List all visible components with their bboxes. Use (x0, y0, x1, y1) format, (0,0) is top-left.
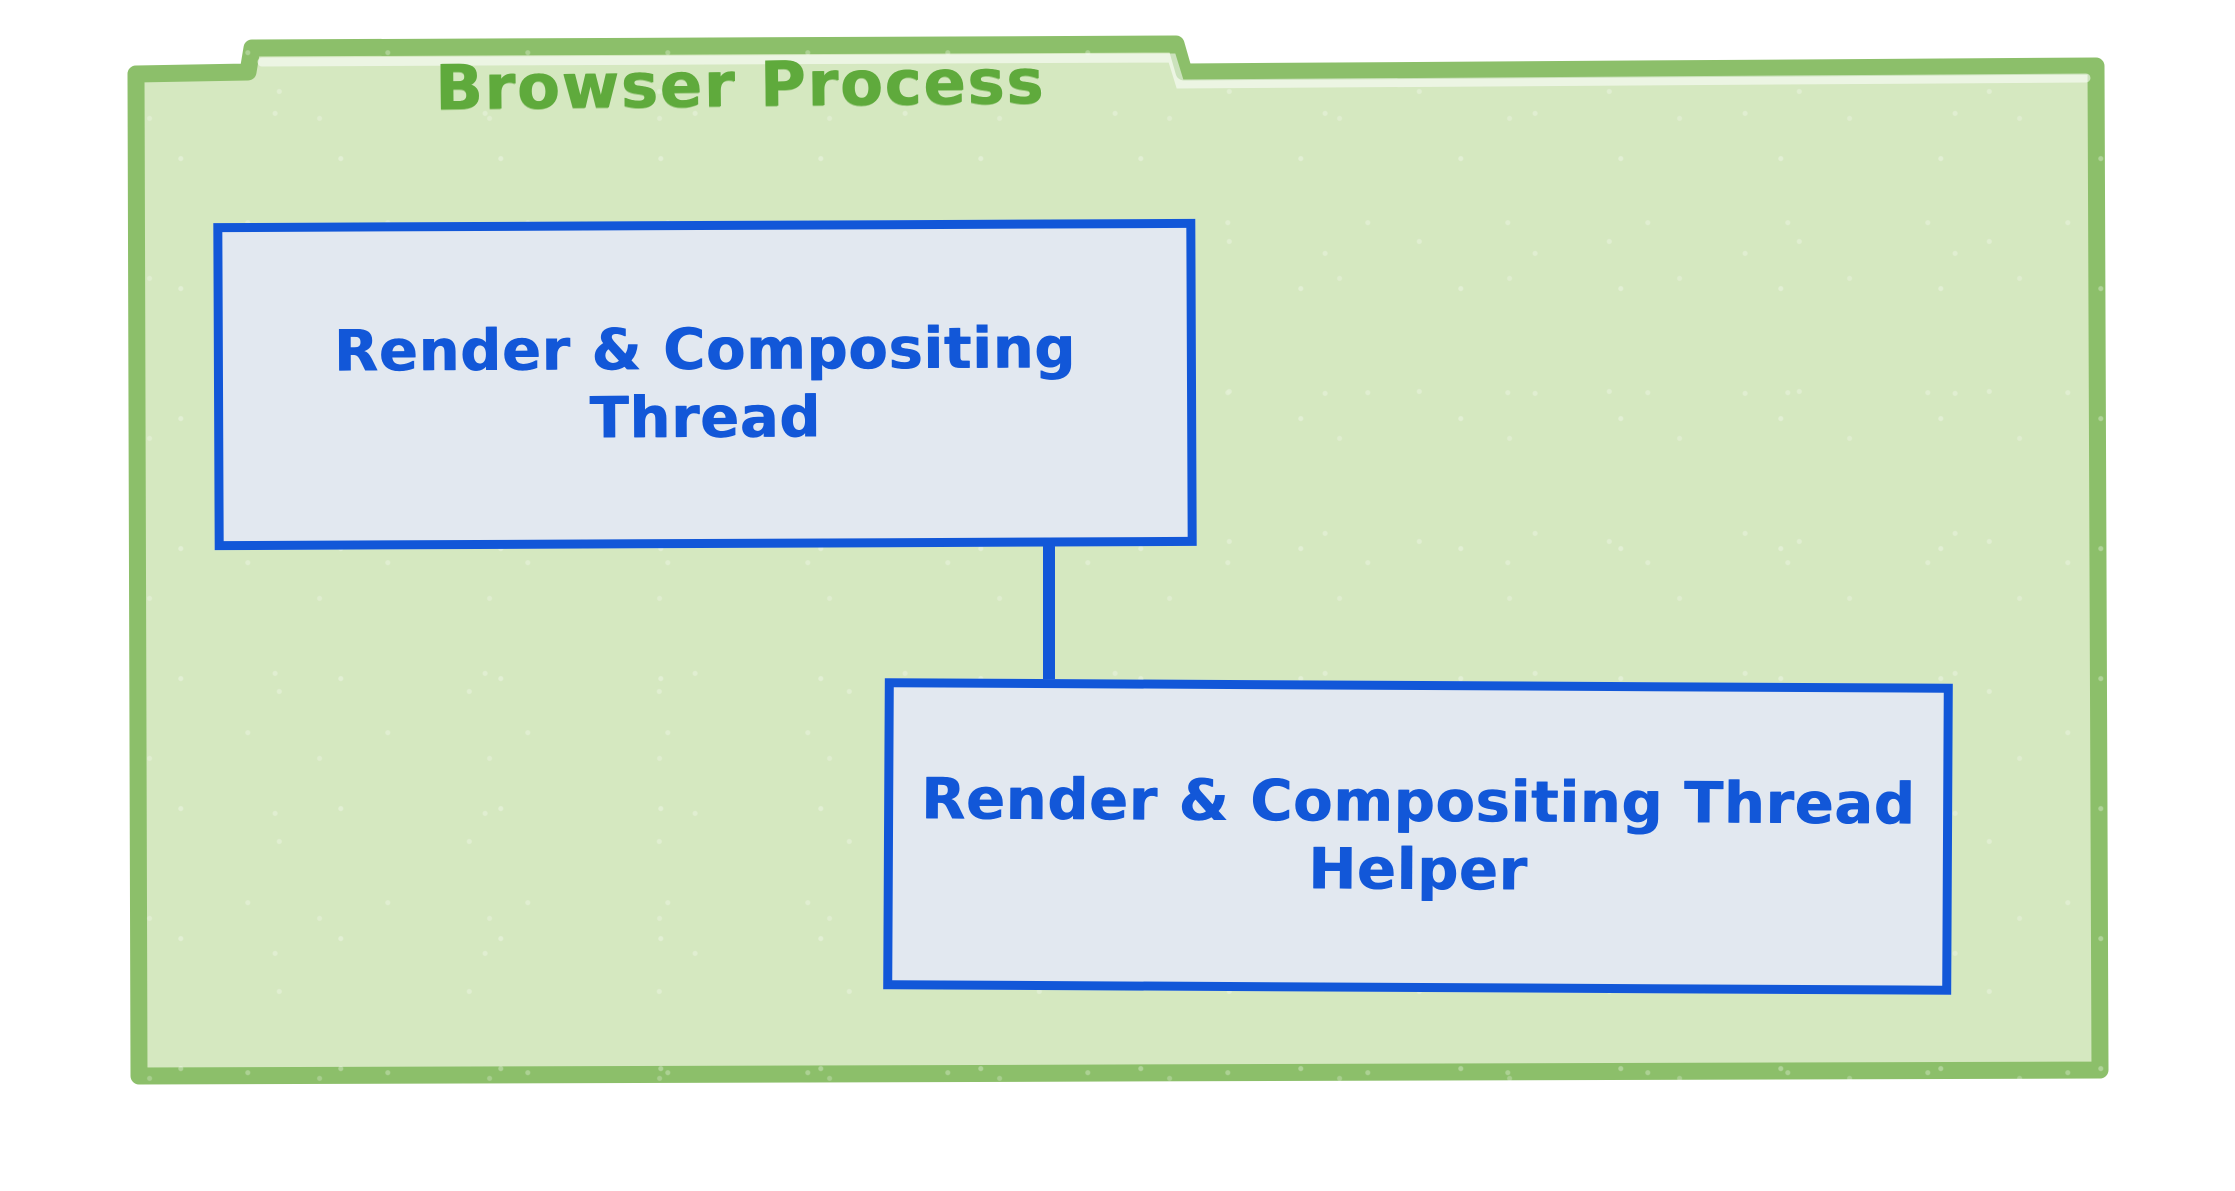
box-render-compositing-thread-helper-label: Render & Compositing Thread Helper (893, 767, 1944, 907)
box-render-compositing-thread[interactable]: Render & Compositing Thread (213, 219, 1196, 550)
box-render-compositing-thread-helper[interactable]: Render & Compositing Thread Helper (883, 678, 1953, 995)
connector-thread-to-helper (1043, 540, 1055, 688)
diagram-canvas: Browser Process Render & Compositing Thr… (0, 0, 2235, 1191)
browser-process-container (0, 0, 2235, 1191)
box-render-compositing-thread-label: Render & Compositing Thread (223, 315, 1188, 454)
process-title: Browser Process (300, 41, 1181, 128)
paper-texture (0, 0, 2235, 1191)
